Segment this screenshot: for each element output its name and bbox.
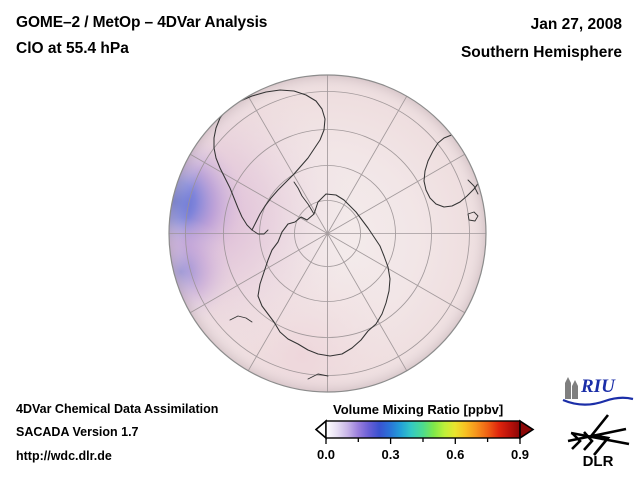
colorbar-title: Volume Mixing Ratio [ppbv] [333, 402, 503, 417]
colorbar-ticks [326, 438, 520, 444]
figure-region: Southern Hemisphere [461, 44, 622, 62]
colorbar-tick-2: 0.6 [446, 447, 464, 462]
footer-line-2: SACADA Version 1.7 [16, 425, 139, 439]
riu-tower-icon [565, 377, 578, 399]
colorbar-tick-labels: 0.0 0.3 0.6 0.9 [310, 447, 538, 467]
colorbar-tick-3: 0.9 [511, 447, 529, 462]
footer-url: http://wdc.dlr.de [16, 449, 112, 463]
figure-title-line2: ClO at 55.4 hPa [16, 40, 129, 58]
colorbar-tick-1: 0.3 [382, 447, 400, 462]
dlr-logo: DLR [562, 411, 638, 471]
dlr-wordmark: DLR [583, 453, 614, 470]
figure-canvas: GOME–2 / MetOp – 4DVar Analysis ClO at 5… [0, 0, 640, 480]
dlr-mark-icon [568, 415, 629, 455]
riu-logo: RIU [557, 373, 637, 406]
colorbar [310, 419, 538, 445]
colorbar-gradient [326, 421, 520, 438]
colorbar-right-arrow-cap [520, 421, 533, 438]
colorbar-tick-0: 0.0 [317, 447, 335, 462]
colorbar-left-arrow-cap [316, 421, 326, 438]
coastline-limb-arc-topright [416, 84, 434, 96]
figure-title-line1: GOME–2 / MetOp – 4DVar Analysis [16, 14, 267, 32]
figure-date: Jan 27, 2008 [531, 16, 622, 34]
riu-wordmark: RIU [580, 376, 616, 397]
footer-line-1: 4DVar Chemical Data Assimilation [16, 402, 218, 416]
globe-map [168, 74, 487, 393]
